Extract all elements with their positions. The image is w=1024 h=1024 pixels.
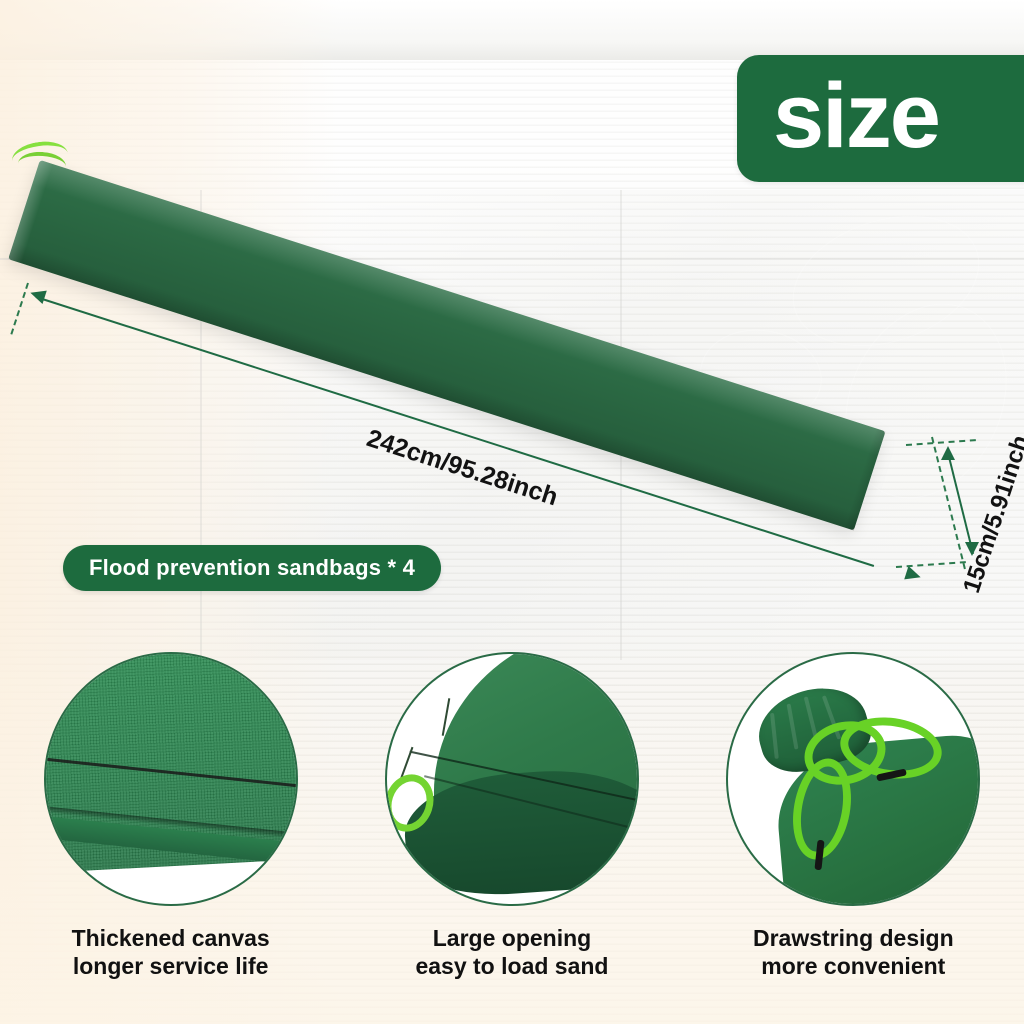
feature-caption-line2: longer service life xyxy=(72,952,270,980)
size-badge: size xyxy=(737,55,1024,182)
width-arrow-up-icon xyxy=(941,446,955,460)
product-name-badge: Flood prevention sandbags * 4 xyxy=(63,545,441,591)
feature-list: Thickened canvas longer service life Lar… xyxy=(0,652,1024,980)
feature-caption: Thickened canvas longer service life xyxy=(72,924,270,980)
feature-caption-line1: Thickened canvas xyxy=(72,924,270,952)
feature-caption-line1: Large opening xyxy=(415,924,608,952)
product-name-label: Flood prevention sandbags * 4 xyxy=(89,555,415,581)
feature-caption-line2: more convenient xyxy=(753,952,954,980)
feature-caption: Large opening easy to load sand xyxy=(415,924,608,980)
ruffle-fold xyxy=(770,713,779,759)
feature-item-opening: Large opening easy to load sand xyxy=(362,652,662,980)
drawstring-bow-icon xyxy=(726,652,980,906)
ruffle-fold xyxy=(787,704,799,750)
feature-item-canvas: Thickened canvas longer service life xyxy=(21,652,321,980)
size-badge-label: size xyxy=(737,70,939,162)
product-infographic: size 242cm/95.28inch 15cm/5.91inch Flood… xyxy=(0,0,1024,1024)
feature-caption: Drawstring design more convenient xyxy=(753,924,954,980)
background-seam-vertical-mid xyxy=(620,190,622,660)
feature-item-drawstring: Drawstring design more convenient xyxy=(703,652,1003,980)
feature-caption-line1: Drawstring design xyxy=(753,924,954,952)
bag-opening-icon xyxy=(385,652,639,906)
feature-caption-line2: easy to load sand xyxy=(415,952,608,980)
canvas-texture-icon xyxy=(44,652,298,906)
